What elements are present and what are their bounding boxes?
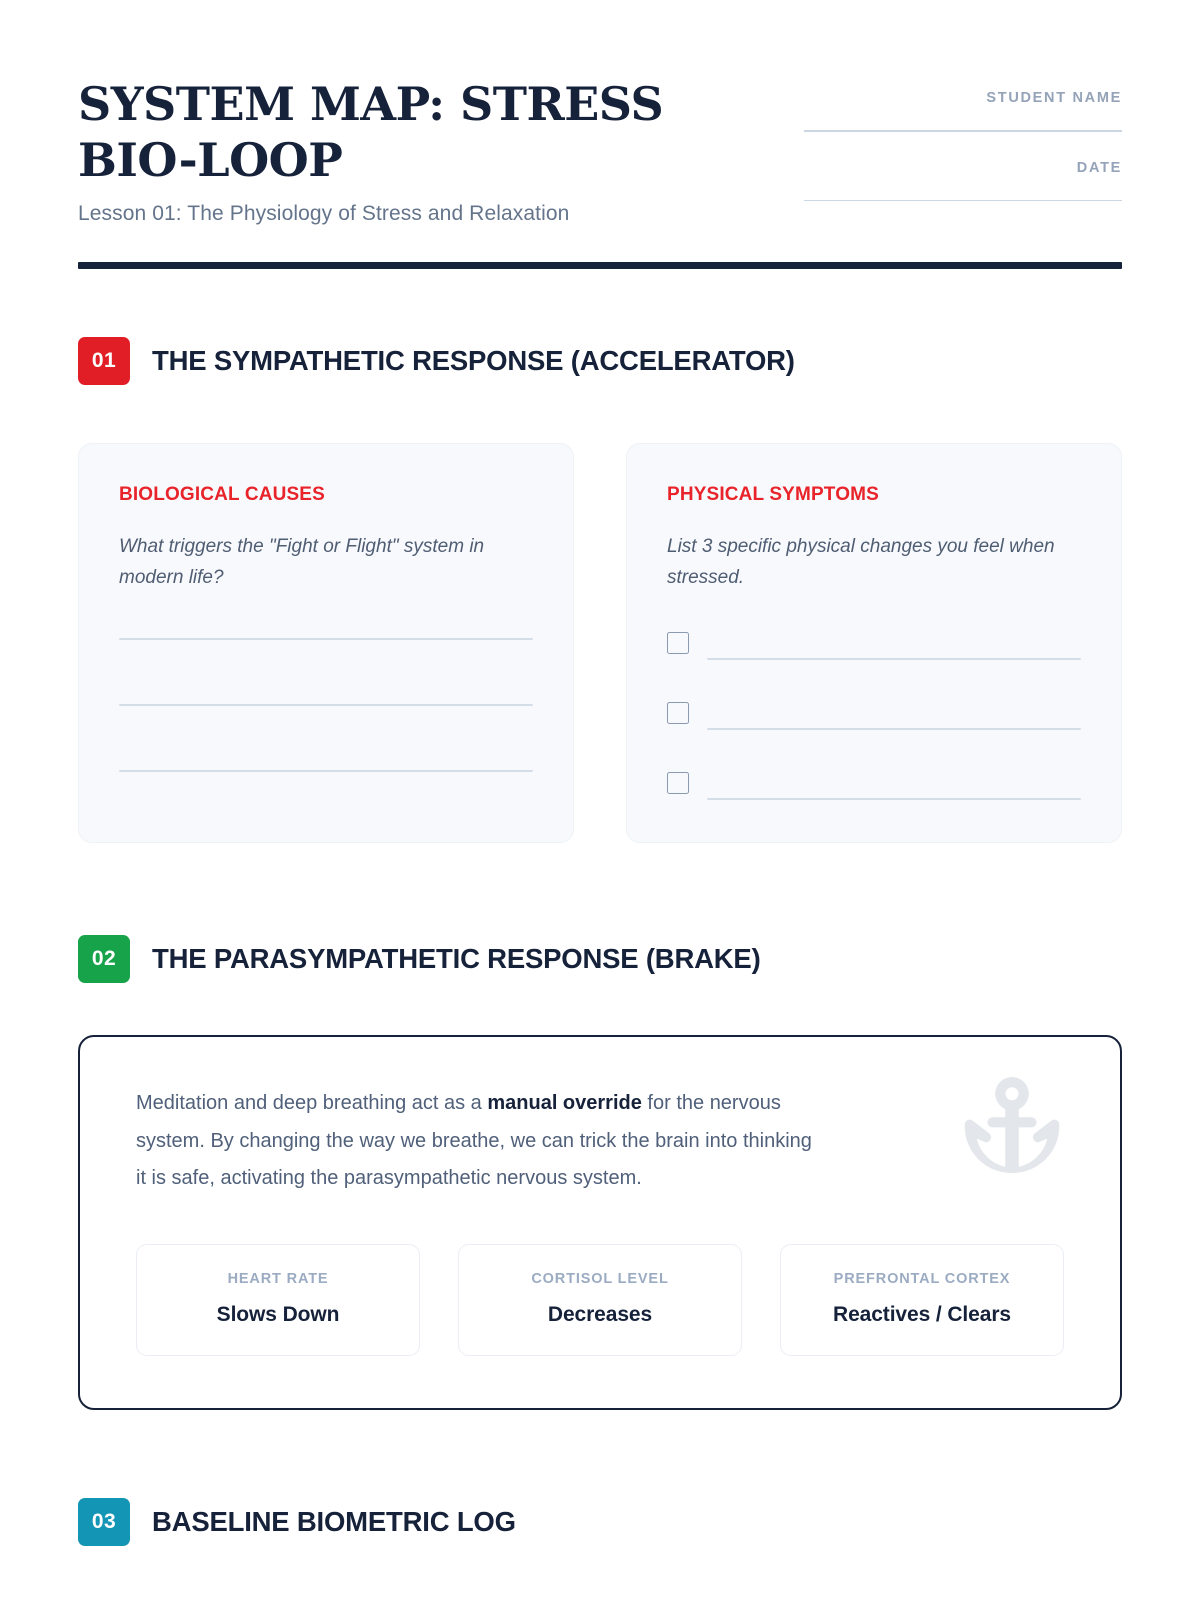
- section-03: 03 BASELINE BIOMETRIC LOG: [78, 1498, 1122, 1546]
- section-03-heading: 03 BASELINE BIOMETRIC LOG: [78, 1498, 1122, 1546]
- physical-symptoms-title: PHYSICAL SYMPTOMS: [667, 484, 1081, 506]
- answer-line[interactable]: [707, 728, 1081, 730]
- section-01: 01 THE SYMPATHETIC RESPONSE (ACCELERATOR…: [78, 337, 1122, 843]
- date-field[interactable]: DATE: [804, 160, 1122, 202]
- parasympathetic-description: Meditation and deep breathing act as a m…: [136, 1085, 826, 1198]
- metric-value: Reactives / Clears: [791, 1303, 1053, 1327]
- student-name-input-rule[interactable]: [804, 130, 1122, 132]
- checkbox-icon[interactable]: [667, 772, 689, 794]
- checklist-item: [667, 772, 1081, 800]
- student-name-field[interactable]: STUDENT NAME: [804, 90, 1122, 132]
- biometric-effects-row: HEART RATE Slows Down CORTISOL LEVEL Dec…: [136, 1244, 1064, 1356]
- checkbox-icon[interactable]: [667, 702, 689, 724]
- page-header: SYSTEM MAP: STRESS BIO-LOOP Lesson 01: T…: [78, 0, 1122, 226]
- date-input-rule[interactable]: [804, 200, 1122, 202]
- section-02-badge: 02: [78, 935, 130, 983]
- metric-heart-rate: HEART RATE Slows Down: [136, 1244, 420, 1356]
- checkbox-icon[interactable]: [667, 632, 689, 654]
- date-label: DATE: [804, 160, 1122, 176]
- biological-causes-prompt: What triggers the "Fight or Flight" syst…: [119, 532, 533, 594]
- physical-symptoms-card: PHYSICAL SYMPTOMS List 3 specific physic…: [626, 443, 1122, 843]
- anchor-icon: [952, 1069, 1072, 1189]
- checklist-item: [667, 632, 1081, 660]
- section-03-badge: 03: [78, 1498, 130, 1546]
- metric-label: CORTISOL LEVEL: [469, 1271, 731, 1287]
- metric-value: Decreases: [469, 1303, 731, 1327]
- metric-cortisol-level: CORTISOL LEVEL Decreases: [458, 1244, 742, 1356]
- student-name-label: STUDENT NAME: [804, 90, 1122, 106]
- biological-causes-title: BIOLOGICAL CAUSES: [119, 484, 533, 506]
- worksheet-page: SYSTEM MAP: STRESS BIO-LOOP Lesson 01: T…: [0, 0, 1200, 1600]
- section-02-heading: 02 THE PARASYMPATHETIC RESPONSE (BRAKE): [78, 935, 1122, 983]
- metric-value: Slows Down: [147, 1303, 409, 1327]
- header-divider: [78, 262, 1122, 269]
- physical-symptoms-prompt: List 3 specific physical changes you fee…: [667, 532, 1081, 594]
- parasympathetic-info-box: Meditation and deep breathing act as a m…: [78, 1035, 1122, 1410]
- description-text-before: Meditation and deep breathing act as a: [136, 1092, 487, 1114]
- section-01-badge: 01: [78, 337, 130, 385]
- header-fields: STUDENT NAME DATE: [804, 76, 1122, 201]
- answer-line[interactable]: [707, 798, 1081, 800]
- answer-line[interactable]: [119, 770, 533, 772]
- checklist-item: [667, 702, 1081, 730]
- section-02: 02 THE PARASYMPATHETIC RESPONSE (BRAKE) …: [78, 935, 1122, 1410]
- description-emphasis: manual override: [487, 1092, 642, 1114]
- metric-label: HEART RATE: [147, 1271, 409, 1287]
- metric-label: PREFRONTAL CORTEX: [791, 1271, 1053, 1287]
- answer-line[interactable]: [707, 658, 1081, 660]
- page-title: SYSTEM MAP: STRESS BIO-LOOP: [78, 76, 718, 188]
- section-01-cards: BIOLOGICAL CAUSES What triggers the "Fig…: [78, 443, 1122, 843]
- page-subtitle: Lesson 01: The Physiology of Stress and …: [78, 202, 718, 226]
- answer-line[interactable]: [119, 638, 533, 640]
- physical-symptoms-checklist: [667, 632, 1081, 800]
- biological-causes-answer-lines: [119, 638, 533, 772]
- metric-prefrontal-cortex: PREFRONTAL CORTEX Reactives / Clears: [780, 1244, 1064, 1356]
- header-title-block: SYSTEM MAP: STRESS BIO-LOOP Lesson 01: T…: [78, 76, 718, 226]
- section-02-title: THE PARASYMPATHETIC RESPONSE (BRAKE): [152, 943, 761, 975]
- section-03-title: BASELINE BIOMETRIC LOG: [152, 1506, 516, 1538]
- answer-line[interactable]: [119, 704, 533, 706]
- biological-causes-card: BIOLOGICAL CAUSES What triggers the "Fig…: [78, 443, 574, 843]
- section-01-title: THE SYMPATHETIC RESPONSE (ACCELERATOR): [152, 345, 795, 377]
- section-01-heading: 01 THE SYMPATHETIC RESPONSE (ACCELERATOR…: [78, 337, 1122, 385]
